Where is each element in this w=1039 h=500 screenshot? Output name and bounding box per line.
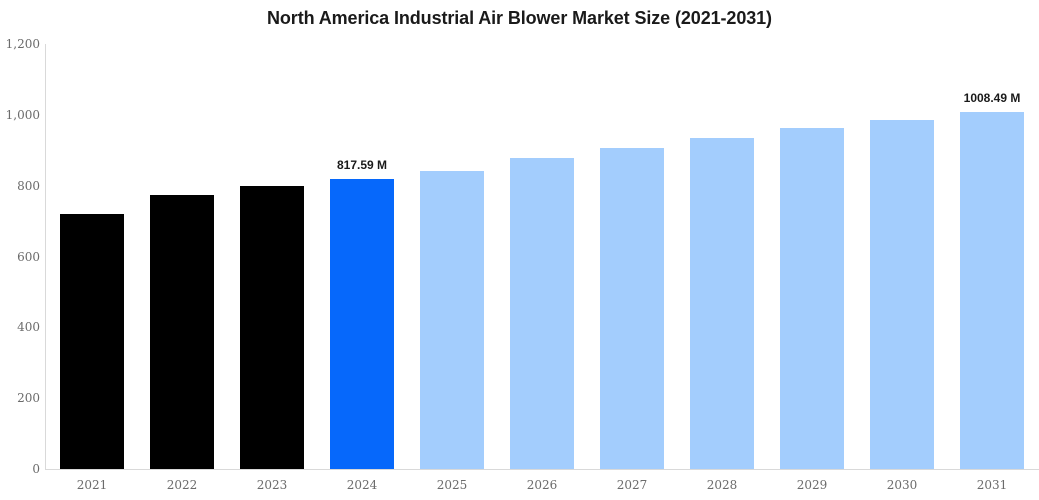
x-axis-tick-2029: 2029 [797,478,828,492]
bar-2025[interactable] [420,171,484,469]
y-axis-tick-200: 200 [0,391,40,405]
bar-fill-2023 [240,186,304,469]
x-axis-tick-2031: 2031 [977,478,1008,492]
bar-fill-2027 [600,148,664,469]
plot-area [45,44,1039,469]
bar-fill-2021 [60,214,124,469]
bar-fill-2025 [420,171,484,469]
bar-fill-2031 [960,112,1024,469]
bar-2026[interactable] [510,158,574,469]
x-axis-tick-2026: 2026 [527,478,558,492]
x-axis-tick-2027: 2027 [617,478,648,492]
bar-2028[interactable] [690,138,754,469]
bar-2023[interactable] [240,186,304,469]
y-axis-tick-400: 400 [0,320,40,334]
data-label-2024: 817.59 M [337,158,387,172]
bar-2031[interactable] [960,112,1024,469]
bar-2024[interactable] [330,179,394,469]
bar-2027[interactable] [600,148,664,469]
bar-fill-2028 [690,138,754,469]
x-axis-tick-2025: 2025 [437,478,468,492]
data-label-2031: 1008.49 M [964,91,1021,105]
y-axis-tick-1000: 1,000 [0,108,40,122]
y-axis-tick-0: 0 [0,462,40,476]
bar-2029[interactable] [780,128,844,469]
x-axis-tick-2023: 2023 [257,478,288,492]
bar-fill-2022 [150,195,214,469]
y-axis-tick-800: 800 [0,179,40,193]
bar-chart: North America Industrial Air Blower Mark… [0,0,1039,500]
bar-fill-2029 [780,128,844,469]
x-axis-tick-2022: 2022 [167,478,198,492]
bar-2021[interactable] [60,214,124,469]
x-axis-tick-2030: 2030 [887,478,918,492]
bar-fill-2024 [330,179,394,469]
y-axis-tick-1200: 1,200 [0,37,40,51]
x-axis-tick-2021: 2021 [77,478,108,492]
x-axis-line [45,469,1039,470]
x-axis-tick-2028: 2028 [707,478,738,492]
x-axis-tick-2024: 2024 [347,478,378,492]
chart-title: North America Industrial Air Blower Mark… [0,8,1039,29]
bar-fill-2026 [510,158,574,469]
bar-2022[interactable] [150,195,214,469]
y-axis-tick-600: 600 [0,250,40,264]
bar-fill-2030 [870,120,934,469]
bar-2030[interactable] [870,120,934,469]
